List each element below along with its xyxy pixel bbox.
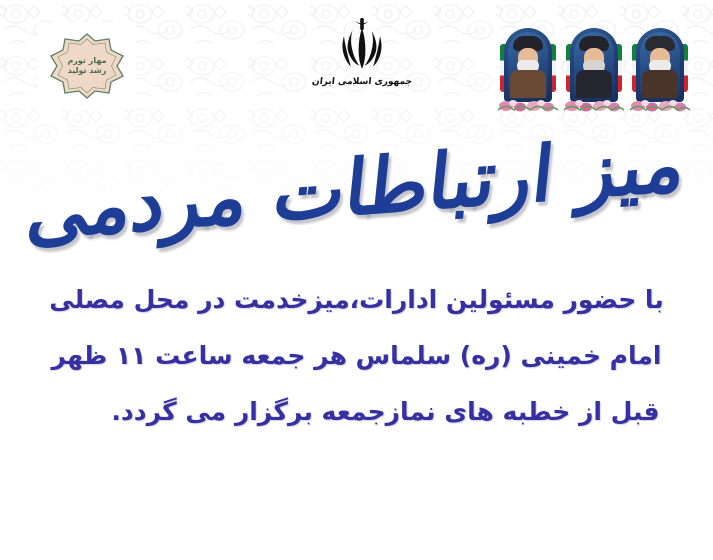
emblem-caption: جمهوری اسلامی ایران [302, 77, 421, 88]
figure [642, 36, 678, 98]
cartouche-frame: مهار تورم رشد تولید [43, 32, 131, 100]
body-line-3: قبل از خطبه های نمازجمعه برگزار می گردد. [0, 384, 713, 440]
poster-title-area: میز ارتباطات مردمی [0, 122, 713, 262]
iran-emblem-icon [338, 18, 386, 70]
emblem-block: جمهوری اسلامی ایران [303, 18, 421, 114]
body-line-2: امام خمینی (ره) سلماس هر جمعه ساعت ۱۱ ظه… [0, 328, 713, 384]
figure [510, 36, 546, 98]
slogan-line-1: مهار تورم [55, 56, 119, 66]
poster-header: مهار تورم رشد تولید جمهوری اسلامی ایران [0, 0, 713, 125]
body-line-1: با حضور مسئولین ادارات،میزخدمت در محل مص… [0, 272, 713, 328]
figure [576, 36, 612, 98]
poster-title: میز ارتباطات مردمی [0, 101, 713, 274]
poster-body: با حضور مسئولین ادارات،میزخدمت در محل مص… [0, 272, 713, 440]
slogan-text-block: مهار تورم رشد تولید [55, 56, 119, 76]
poster-root: مهار تورم رشد تولید جمهوری اسلامی ایران [0, 0, 713, 560]
portrait-khamenei [630, 24, 690, 110]
leader-portraits-group [498, 24, 694, 116]
portrait-imam-khomeini [498, 24, 558, 110]
slogan-line-2: رشد تولید [55, 66, 119, 76]
year-slogan-logo: مهار تورم رشد تولید [38, 22, 136, 110]
flower-decoration-icon [496, 94, 560, 112]
portrait-raisi [564, 24, 624, 110]
